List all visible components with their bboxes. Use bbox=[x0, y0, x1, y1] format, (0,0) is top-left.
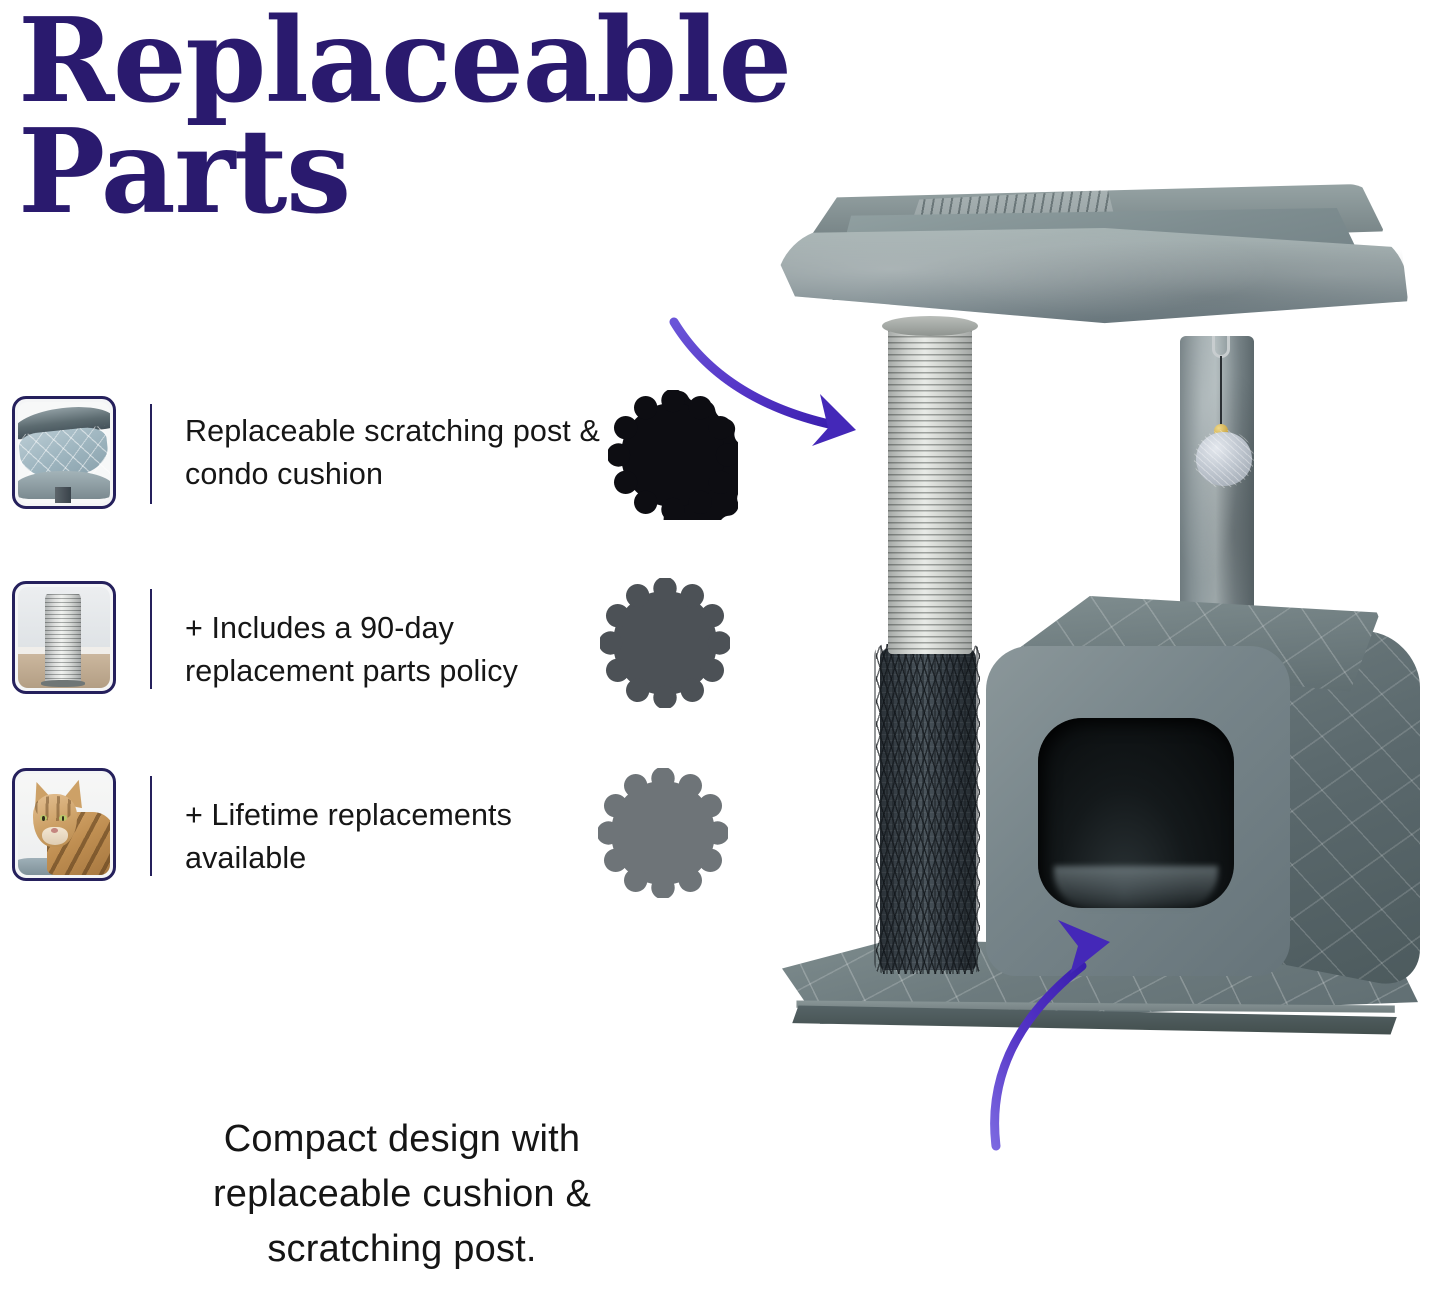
post-foot-shape bbox=[41, 680, 85, 687]
bed-rim-front bbox=[776, 228, 1408, 350]
feature-item-replaceable-parts: Replaceable scratching post & condo cush… bbox=[12, 396, 612, 509]
page-title: Replaceable Parts bbox=[18, 6, 778, 229]
bottom-caption: Compact design with replaceable cushion … bbox=[92, 1112, 712, 1277]
color-swatch-dark-gray bbox=[600, 578, 730, 708]
cushion-thumbnail-image bbox=[18, 402, 110, 503]
hanging-pompom-toy bbox=[1178, 336, 1268, 486]
condo-cube bbox=[986, 596, 1420, 996]
sisal-scratching-post bbox=[888, 324, 972, 654]
infographic-canvas: Replaceable Parts Replaceable scratching… bbox=[0, 0, 1445, 1307]
condo-opening bbox=[1038, 718, 1234, 908]
feature-label: + Includes a 90-day replacement parts po… bbox=[185, 581, 605, 694]
condo-front-panel bbox=[986, 646, 1290, 976]
color-swatch-mid-gray bbox=[598, 768, 728, 898]
page-title-line-2: Parts bbox=[18, 117, 778, 228]
bottom-caption-line-3: scratching post. bbox=[92, 1222, 712, 1277]
bottom-caption-line-2: replaceable cushion & bbox=[92, 1167, 712, 1222]
feature-divider bbox=[150, 589, 152, 689]
bristle-texture-overlay bbox=[874, 644, 982, 974]
bottom-caption-line-1: Compact design with bbox=[92, 1112, 712, 1167]
sisal-post-shape bbox=[45, 594, 82, 685]
feature-item-lifetime-replacements: + Lifetime replacements available bbox=[12, 768, 612, 881]
toy-string bbox=[1220, 356, 1222, 430]
cushion-thumbnail bbox=[12, 396, 116, 509]
scratching-post-thumbnail bbox=[12, 581, 116, 694]
feature-divider bbox=[150, 776, 152, 876]
feature-divider bbox=[150, 404, 152, 504]
feature-label: Replaceable scratching post & condo cush… bbox=[185, 396, 605, 497]
feature-label: + Lifetime replacements available bbox=[185, 768, 605, 881]
color-swatch-black bbox=[608, 390, 738, 520]
toy-hook-icon bbox=[1212, 336, 1230, 358]
top-platform-bed bbox=[776, 184, 1408, 364]
cat-thumbnail bbox=[12, 768, 116, 881]
scratching-post-thumbnail-image bbox=[18, 587, 110, 688]
page-title-line-1: Replaceable bbox=[18, 6, 778, 117]
feature-item-90-day-policy: + Includes a 90-day replacement parts po… bbox=[12, 581, 612, 694]
condo-cushion bbox=[1054, 866, 1219, 908]
cat-thumbnail-image bbox=[18, 774, 110, 875]
cat-nose-shape bbox=[51, 828, 58, 833]
toy-pompom-ball bbox=[1196, 432, 1252, 486]
cat-tree-photo bbox=[770, 178, 1430, 1078]
cushion-leg-shape bbox=[55, 487, 72, 503]
